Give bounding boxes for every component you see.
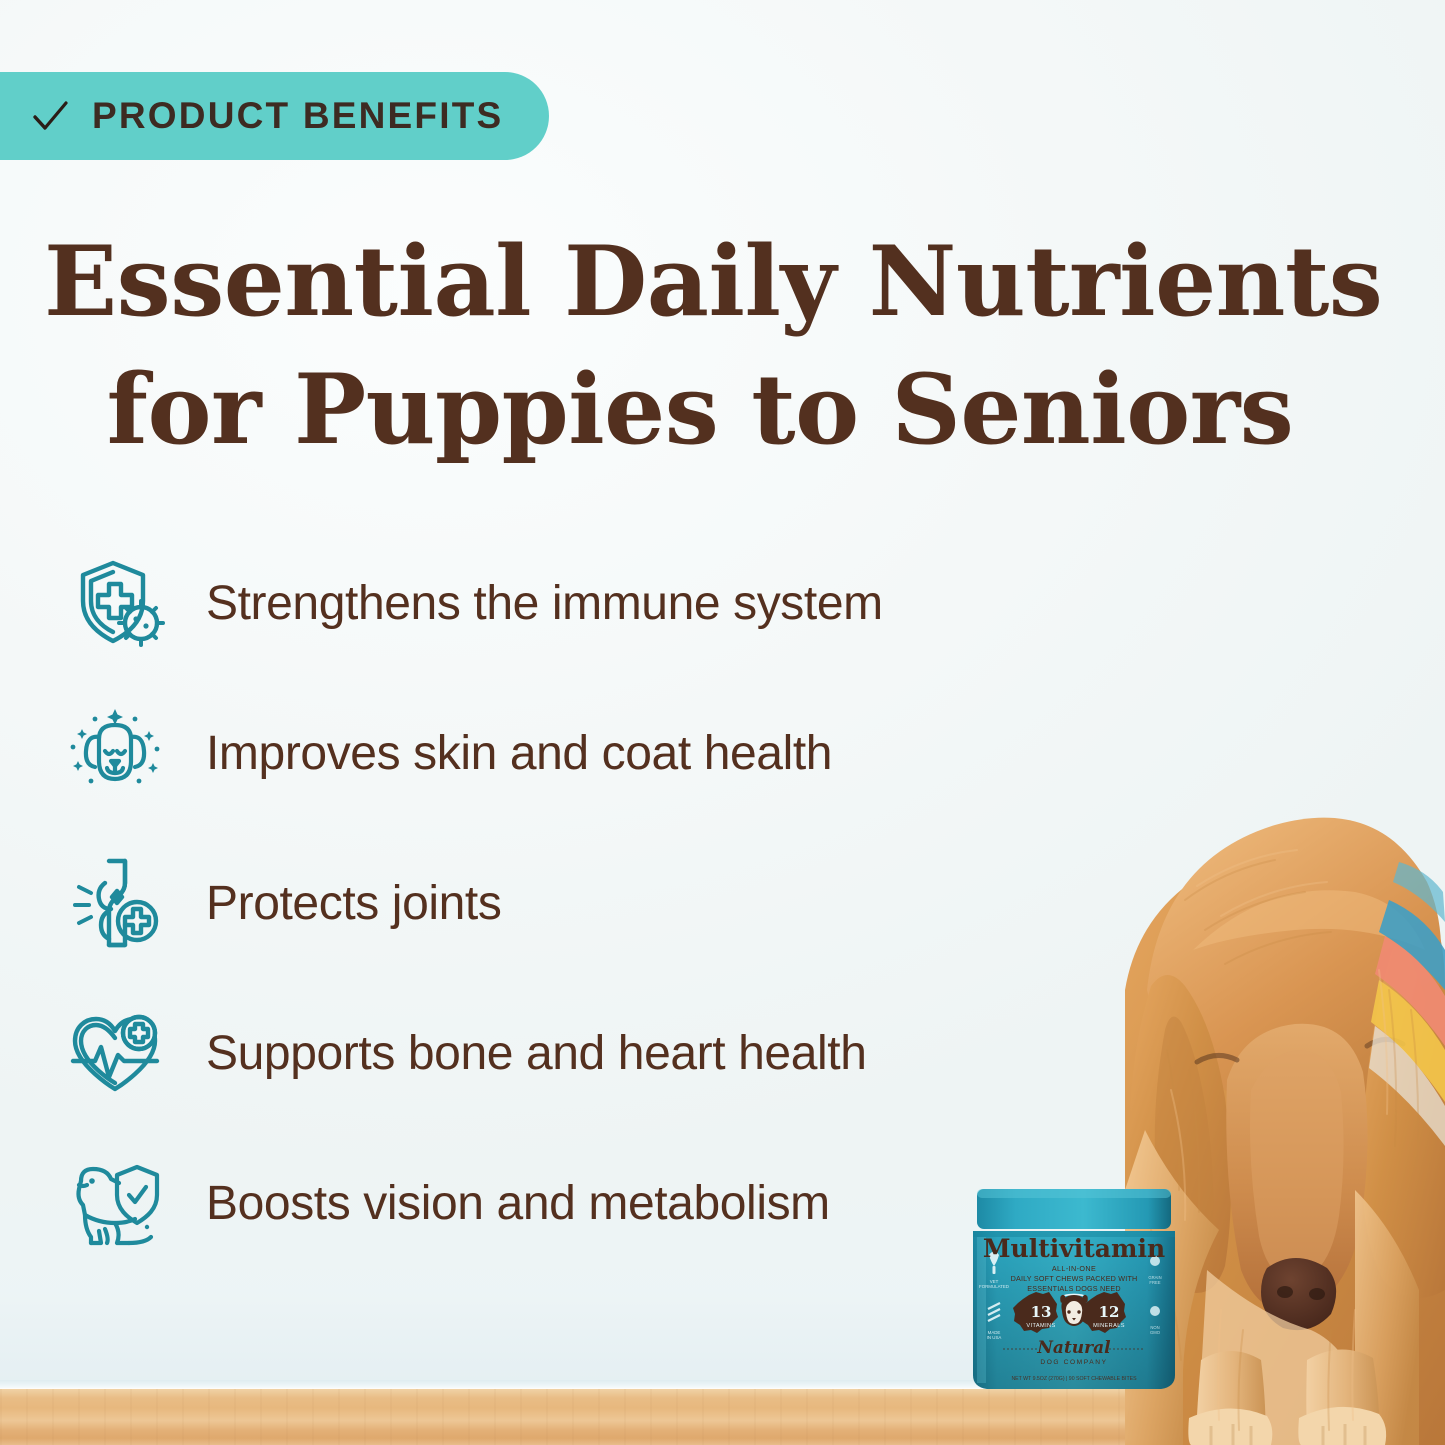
check-icon bbox=[30, 96, 70, 136]
jar-brand-name: Natural bbox=[1036, 1338, 1111, 1358]
svg-text:GMO: GMO bbox=[1150, 1330, 1161, 1335]
product-benefits-badge: PRODUCT BENEFITS bbox=[0, 72, 549, 160]
headline-line-1: Essential Daily Nutrients bbox=[44, 218, 1384, 346]
svg-text:VITAMINS: VITAMINS bbox=[1026, 1323, 1055, 1329]
benefit-label: Protects joints bbox=[206, 876, 501, 931]
jar-brand-sub: DOG COMPANY bbox=[1040, 1359, 1107, 1366]
svg-text:MINERALS: MINERALS bbox=[1093, 1323, 1125, 1329]
jar-tagline-3: ESSENTIALS DOGS NEED bbox=[1027, 1284, 1120, 1293]
svg-text:12: 12 bbox=[1099, 1303, 1120, 1321]
product-benefits-infographic: PRODUCT BENEFITS Essential Daily Nutrien… bbox=[0, 0, 1445, 1445]
jar-tagline-1: ALL-IN-ONE bbox=[1052, 1264, 1096, 1273]
svg-text:FORMULATED: FORMULATED bbox=[979, 1284, 1009, 1289]
svg-text:IN USA: IN USA bbox=[987, 1335, 1002, 1340]
benefit-label: Improves skin and coat health bbox=[206, 726, 832, 781]
benefit-label: Strengthens the immune system bbox=[206, 576, 883, 631]
jar-net-weight: NET WT 9.5OZ (270G) | 90 SOFT CHEWABLE B… bbox=[1011, 1376, 1137, 1382]
headline-line-2: for Puppies to Seniors bbox=[44, 346, 1384, 474]
dog-shield-check-icon bbox=[60, 1148, 170, 1258]
jar-tagline-2: DAILY SOFT CHEWS PACKED WITH bbox=[1011, 1274, 1138, 1283]
benefit-item: Protects joints bbox=[60, 828, 1050, 978]
benefit-item: Supports bone and heart health bbox=[60, 978, 1050, 1128]
bone-joint-cross-icon bbox=[60, 848, 170, 958]
svg-text:FREE: FREE bbox=[1149, 1280, 1160, 1285]
shield-virus-icon bbox=[60, 548, 170, 658]
svg-text:13: 13 bbox=[1031, 1303, 1052, 1321]
page-title: Essential Daily Nutrients for Puppies to… bbox=[44, 218, 1384, 473]
benefit-item: Boosts vision and metabolism bbox=[60, 1128, 1050, 1278]
badge-label: PRODUCT BENEFITS bbox=[92, 95, 503, 137]
benefit-label: Boosts vision and metabolism bbox=[206, 1176, 830, 1231]
heart-pulse-cross-icon bbox=[60, 998, 170, 1108]
product-jar: VET FORMULATED MADE IN USA GRAIN FREE NO… bbox=[963, 1187, 1185, 1399]
benefit-item: Improves skin and coat health bbox=[60, 678, 1050, 828]
jar-product-name: Multivitamin bbox=[983, 1234, 1165, 1263]
benefit-label: Supports bone and heart health bbox=[206, 1026, 867, 1081]
dog-face-sparkle-icon bbox=[60, 698, 170, 808]
benefits-list: Strengthens the immune system bbox=[60, 528, 1050, 1278]
benefit-item: Strengthens the immune system bbox=[60, 528, 1050, 678]
